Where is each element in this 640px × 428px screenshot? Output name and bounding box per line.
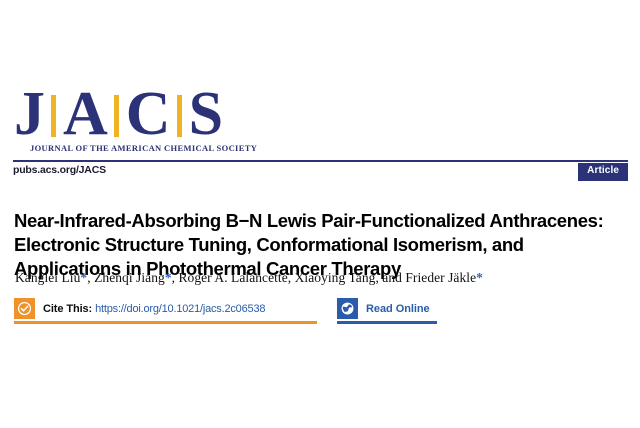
- journal-tagline: JOURNAL OF THE AMERICAN CHEMICAL SOCIETY: [30, 143, 244, 153]
- logo-letter-a: A: [63, 89, 107, 140]
- logo-letter-j: J: [14, 89, 44, 140]
- cite-this-underline: [14, 321, 317, 324]
- cite-this-label: Cite This:: [43, 303, 92, 315]
- logo-letter-c: C: [126, 89, 170, 140]
- article-first-page: J A C S JOURNAL OF THE AMERICAN CHEMICAL…: [0, 0, 640, 428]
- author-name[interactable]: Frieder Jäkle: [405, 270, 476, 285]
- check-circle-icon: [14, 298, 35, 319]
- corresponding-author-marker: *: [476, 270, 483, 285]
- logo-letter-s: S: [189, 89, 222, 140]
- corresponding-author-marker: *: [80, 270, 87, 285]
- header-divider-rule: [13, 160, 628, 162]
- globe-icon: [337, 298, 358, 319]
- cite-this-doi-link[interactable]: https://doi.org/10.1021/jacs.2c06538: [95, 303, 265, 315]
- corresponding-author-marker: *: [165, 270, 172, 285]
- author-name[interactable]: Kanglei Liu: [15, 270, 80, 285]
- article-type-badge: Article: [578, 163, 628, 181]
- logo-divider-bar: [177, 95, 182, 137]
- journal-masthead: J A C S JOURNAL OF THE AMERICAN CHEMICAL…: [14, 88, 244, 153]
- cite-this-block[interactable]: Cite This: https://doi.org/10.1021/jacs.…: [14, 298, 317, 322]
- read-online-block[interactable]: Read Online: [337, 298, 437, 322]
- read-online-label[interactable]: Read Online: [366, 303, 430, 315]
- logo-divider-bar: [51, 95, 56, 137]
- pubs-url-text[interactable]: pubs.acs.org/JACS: [13, 164, 106, 176]
- author-list: Kanglei Liu*, Zhenqi Jiang*, Roger A. La…: [15, 269, 625, 287]
- read-online-underline: [337, 321, 437, 324]
- jacs-logo: J A C S: [14, 88, 244, 140]
- author-name[interactable]: Xiaoying Tang: [295, 270, 376, 285]
- author-name[interactable]: Roger A. Lalancette: [178, 270, 287, 285]
- header-url-row: pubs.acs.org/JACS Article: [13, 163, 628, 181]
- author-name[interactable]: Zhenqi Jiang: [94, 270, 165, 285]
- logo-divider-bar: [114, 95, 119, 137]
